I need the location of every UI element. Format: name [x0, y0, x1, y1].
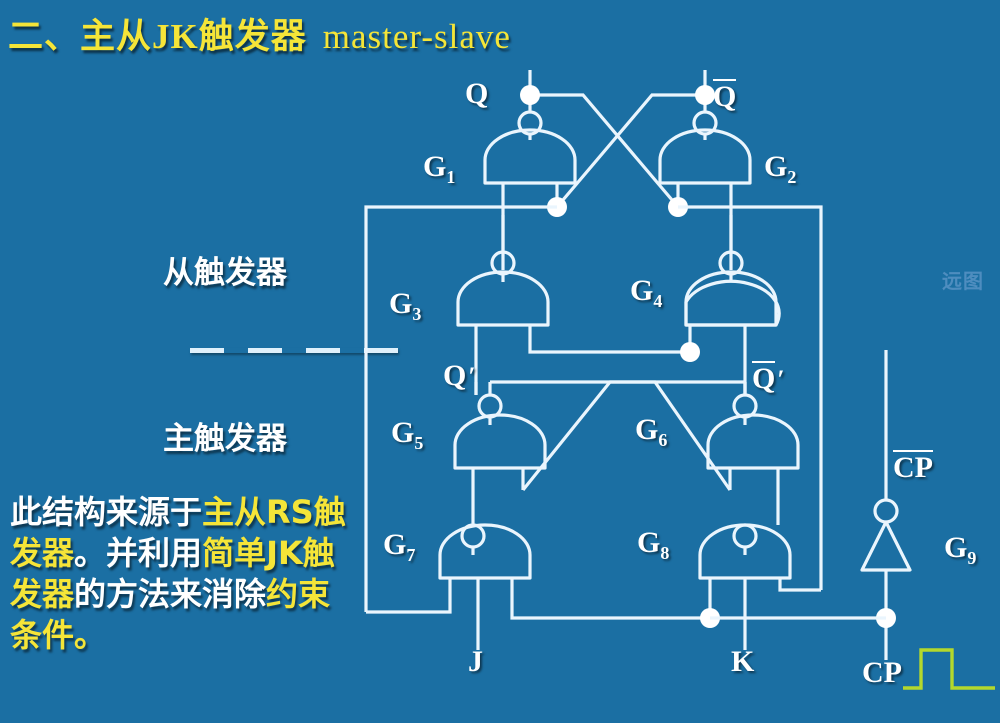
label-j-input: J [468, 647, 483, 677]
label-g3: G3 [389, 289, 421, 323]
label-g4: G4 [630, 276, 662, 310]
gate-g5 [455, 382, 545, 525]
gate-g6 [708, 382, 798, 525]
cross-coupling-master [490, 382, 745, 490]
label-k-input: K [731, 647, 754, 677]
label-g5: G5 [391, 418, 423, 452]
label-q: Q [465, 79, 488, 109]
label-cp-input: CP [862, 658, 902, 688]
label-cp-bar: CP [893, 450, 933, 483]
right-feedback-bus [678, 207, 821, 590]
label-g9: G9 [944, 533, 976, 567]
label-q-prime: Q′ [443, 361, 476, 391]
clock-waveform [903, 650, 995, 688]
label-q-bar: Q [713, 79, 736, 112]
logic-circuit-diagram [0, 0, 1000, 723]
slide-canvas: 二、主从JK触发器master-slave 从触发器 主触发器 远图 此结构来源… [0, 0, 1000, 723]
label-g8: G8 [637, 528, 669, 562]
label-g6: G6 [635, 415, 667, 449]
label-q-bar-prime: Q′ [752, 361, 785, 394]
master-to-slave-links [476, 382, 745, 395]
label-g7: G7 [383, 530, 415, 564]
label-g2: G2 [764, 152, 796, 186]
gate-g8 [700, 525, 821, 650]
label-g1: G1 [423, 152, 455, 186]
cross-coupling-slave [520, 85, 715, 217]
